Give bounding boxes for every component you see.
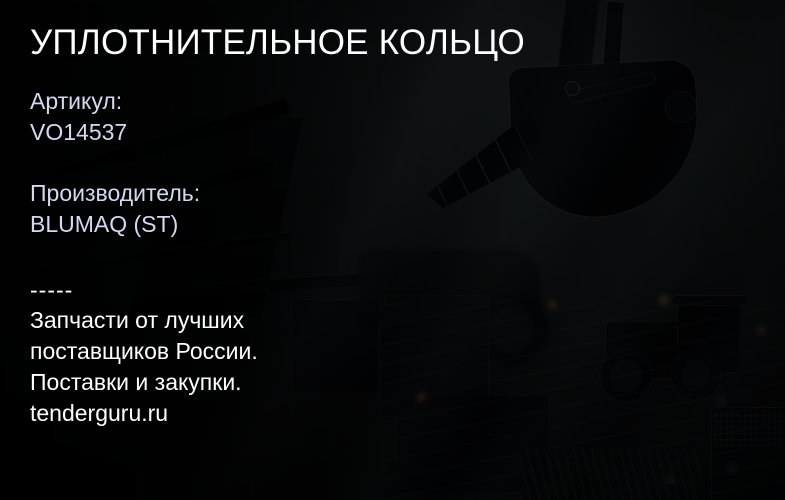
excavator-pivot-pin-silhouette [566,82,579,95]
cargo-crate-mesh-silhouette [714,410,783,446]
tractor-body-silhouette [606,322,702,378]
site-url: tenderguru.ru [30,398,258,429]
excavator-linkage-silhouette [568,72,656,104]
article-value: VO14537 [30,117,127,148]
tagline-line-1: Запчасти от лучших [30,305,258,336]
tractor-rear-wheel-silhouette [672,352,720,400]
product-banner: УПЛОТНИТЕЛЬНОЕ КОЛЬЦО Артикул: VO14537 П… [0,0,785,500]
tagline-block: Запчасти от лучших поставщиков России. П… [30,305,258,429]
manufacturer-value: BLUMAQ (ST) [30,209,200,240]
tagline-line-2: поставщиков России. [30,336,258,367]
article-field: Артикул: VO14537 [30,86,127,148]
tractor-front-wheel-silhouette [600,350,652,402]
banner-content: УПЛОТНИТЕЛЬНОЕ КОЛЬЦО Артикул: VO14537 П… [30,0,550,500]
page-title: УПЛОТНИТЕЛЬНОЕ КОЛЬЦО [30,22,525,64]
excavator-stick-silhouette [596,2,624,171]
bokeh-light-icon [716,396,726,406]
bokeh-light-icon [757,326,766,335]
manufacturer-label: Производитель: [30,180,200,206]
tractor-cab-silhouette [678,300,740,372]
excavator-arm-silhouette [545,0,602,175]
cargo-crate-silhouette [712,408,785,500]
bokeh-light-icon [659,295,669,305]
divider: ----- [30,275,73,306]
article-label: Артикул: [30,88,122,114]
bokeh-light-icon [666,476,674,484]
excavator-knuckle-silhouette [666,92,696,122]
bokeh-light-icon [726,462,738,474]
tractor-roof-silhouette [672,296,746,305]
manufacturer-field: Производитель: BLUMAQ (ST) [30,178,200,240]
tagline-line-3: Поставки и закупки. [30,367,258,398]
